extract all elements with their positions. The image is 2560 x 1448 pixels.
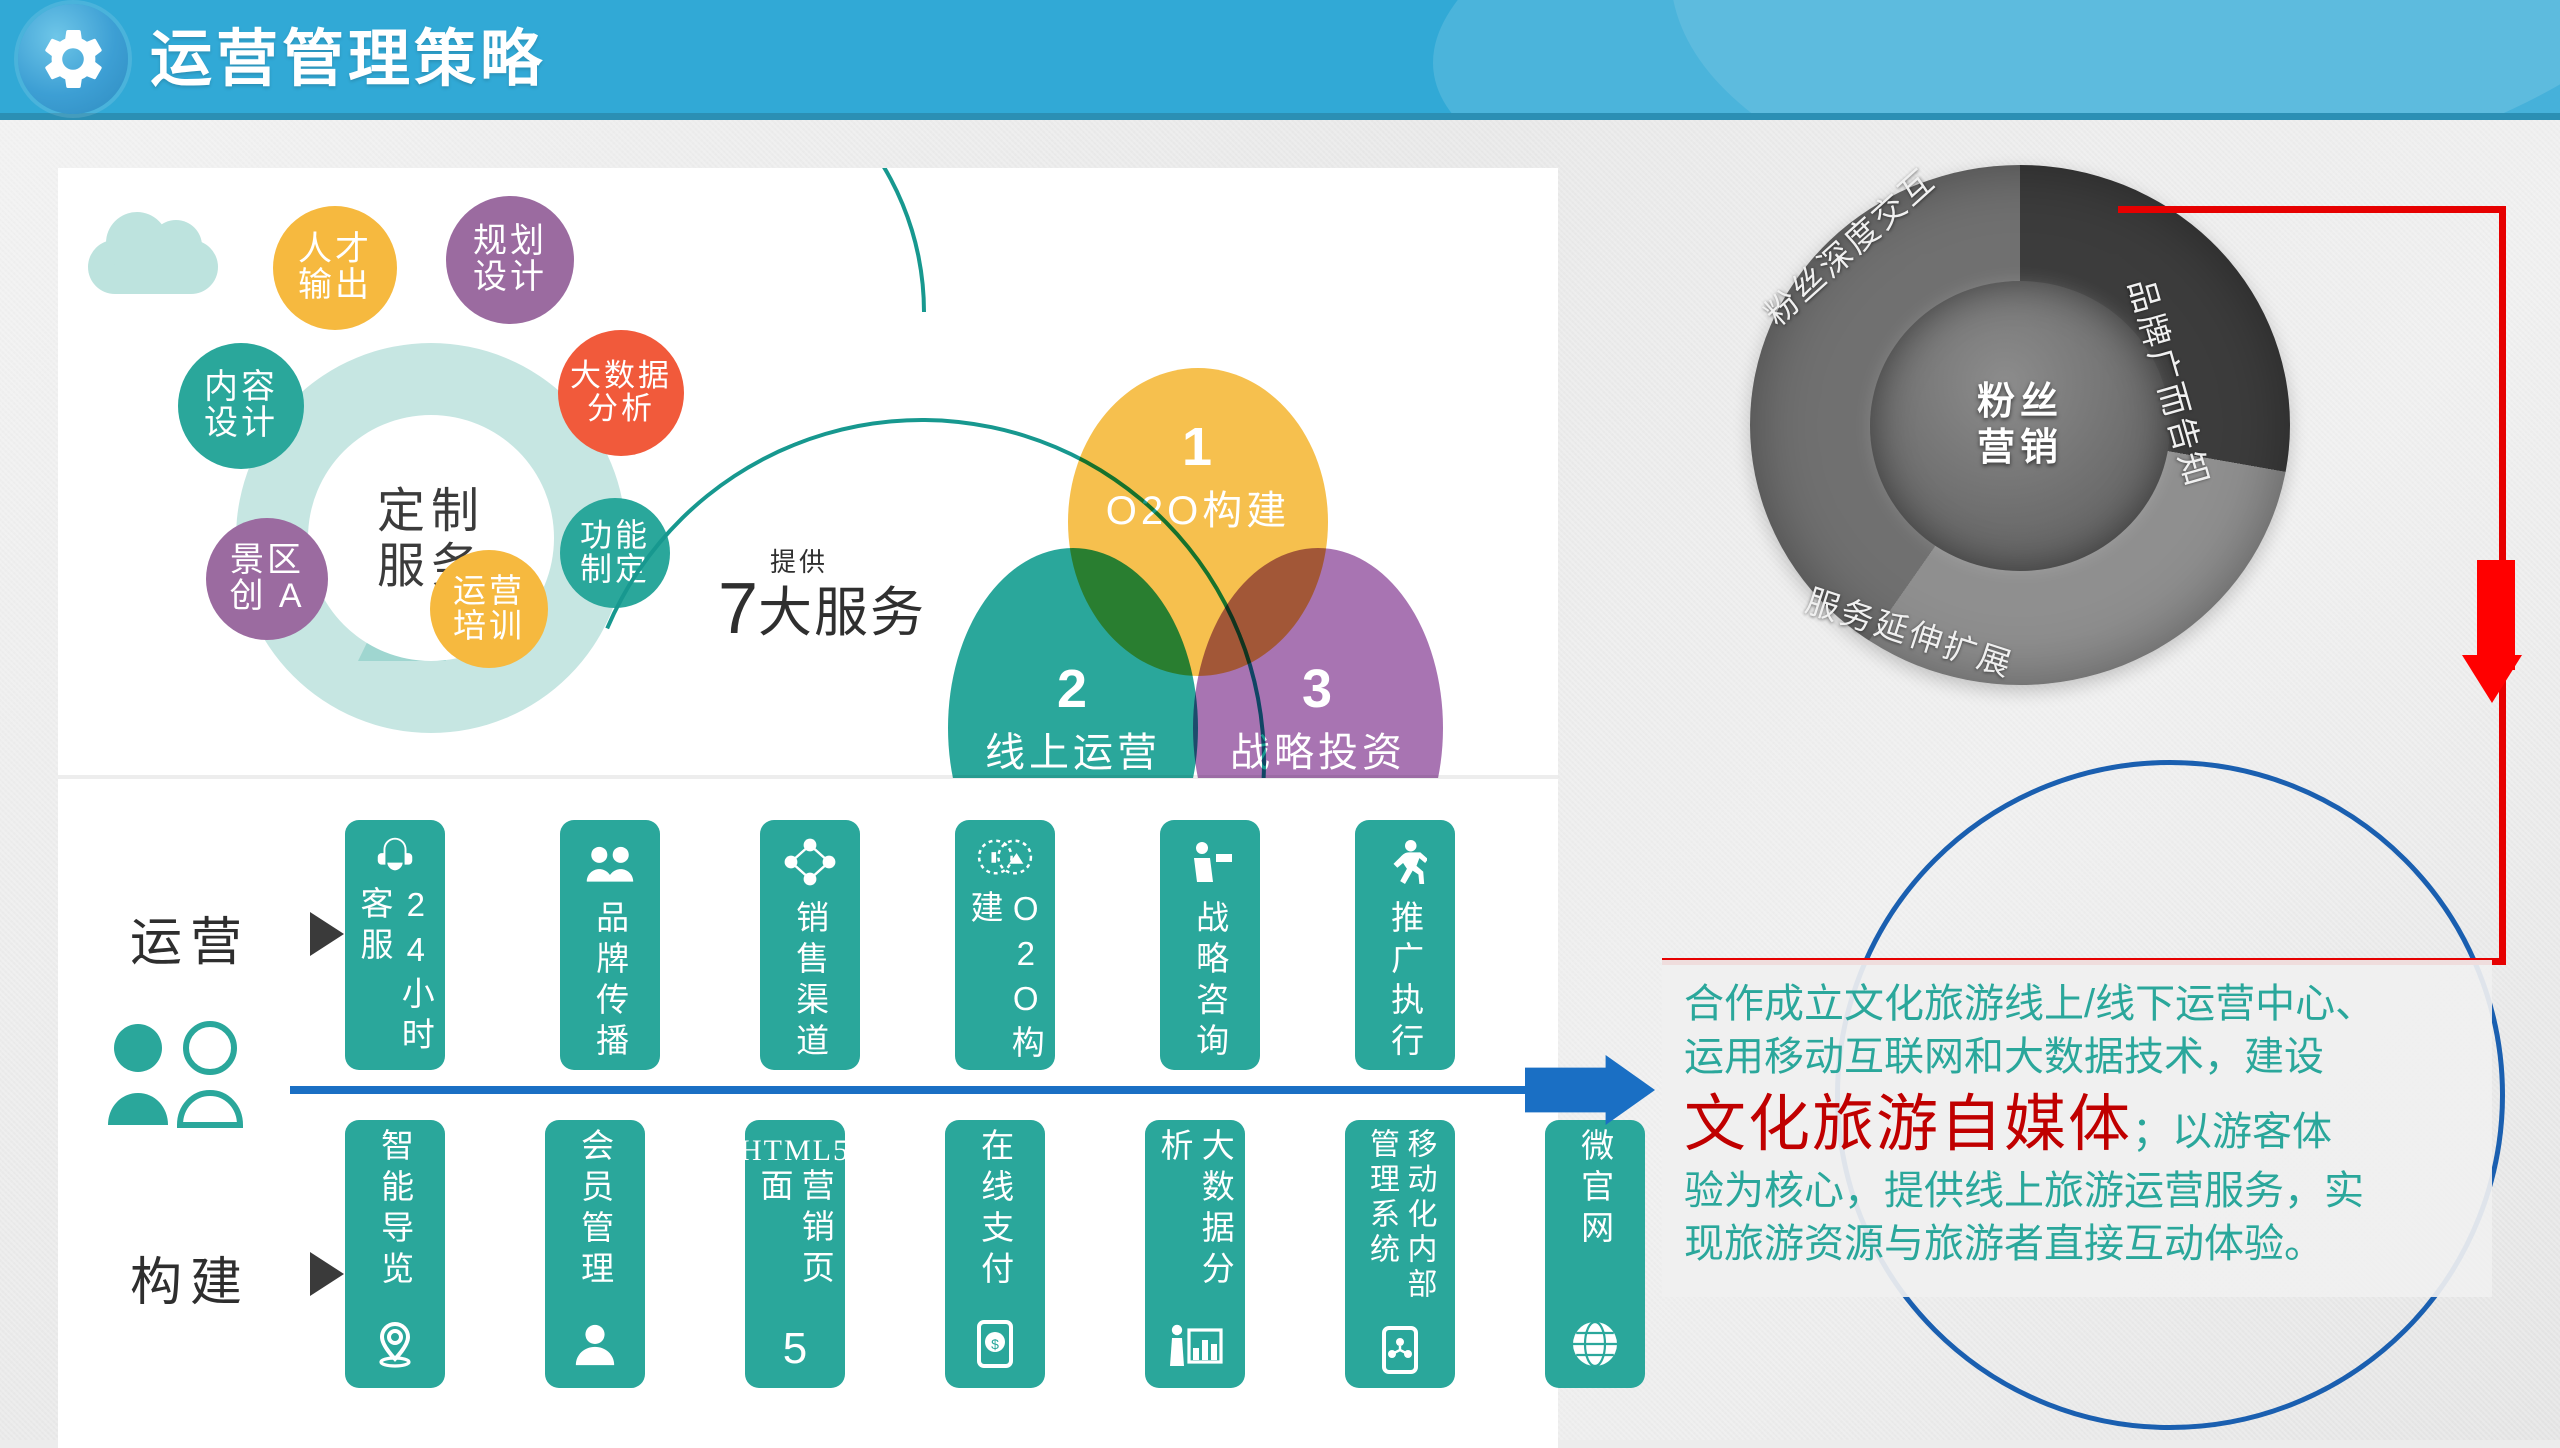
- card-wechat-official-site[interactable]: 微官网: [1545, 1120, 1645, 1388]
- blue-connector-shaft: [290, 1086, 1530, 1094]
- globe-icon: [1571, 1314, 1619, 1374]
- donut-center-label: 粉丝 营销: [1870, 281, 2170, 571]
- card-mobile-internal-system[interactable]: 移动化内部管理系统: [1345, 1120, 1455, 1388]
- callout-line-2: 运用移动互联网和大数据技术，建设: [1684, 1031, 2470, 1084]
- gear-icon: [18, 4, 128, 114]
- card-brand-communication[interactable]: 品牌传播: [560, 820, 660, 1070]
- donut-center-line1: 粉丝: [1977, 380, 2063, 426]
- venn-number: 3: [1302, 658, 1334, 720]
- mobile-pay-icon: $: [977, 1314, 1013, 1374]
- card-24h-service[interactable]: 24小时客服: [345, 820, 445, 1070]
- running-person-icon: [1383, 832, 1427, 892]
- callout-text-box: 合作成立文化旅游线上/线下运营中心、 运用移动互联网和大数据技术，建设 文化旅游…: [1662, 960, 2492, 1297]
- card-html5-top: HTML5: [740, 1134, 850, 1168]
- card-html5-marketing-page[interactable]: HTML5 营销页面 5: [745, 1120, 845, 1388]
- card-sales-channel[interactable]: 销售渠道: [760, 820, 860, 1070]
- row-arrow-operation: [310, 912, 344, 956]
- service-callout-sup: 提供: [770, 542, 828, 579]
- bubble-scenic-a-rating[interactable]: 景区 创 A: [206, 518, 328, 640]
- service-callout-number: 7: [718, 569, 758, 649]
- page-title: 运营管理策略: [150, 12, 546, 108]
- card-member-management[interactable]: 会员管理: [545, 1120, 645, 1388]
- podium-speaker-icon: [1184, 832, 1236, 892]
- location-pin-icon: [373, 1314, 417, 1374]
- donut-inner-disc: 粉丝 营销: [1870, 281, 2170, 571]
- callout-highlight: 文化旅游自媒体: [1684, 1090, 2132, 1159]
- card-label: 战略咨询: [1189, 900, 1230, 1064]
- callout-line-3: 文化旅游自媒体；以游客体: [1684, 1084, 2470, 1166]
- bubble-label-line2: 创 A: [229, 579, 304, 615]
- red-connector-right: [2499, 206, 2506, 596]
- bubble-label-line1: 景区: [229, 543, 304, 579]
- svg-text:$: $: [991, 1336, 999, 1352]
- callout-after-highlight: ；以游客体: [2132, 1110, 2332, 1154]
- card-o2o-construction[interactable]: O2O构建: [955, 820, 1055, 1070]
- header-underline: [0, 113, 2560, 120]
- card-big-data-analysis[interactable]: 大数据分析: [1145, 1120, 1245, 1388]
- card-html5-bottom: 5: [783, 1324, 807, 1374]
- card-online-payment[interactable]: 在线支付 $: [945, 1120, 1045, 1388]
- header-wave-decoration-front: [1411, 0, 2560, 120]
- two-people-icon: [585, 832, 635, 892]
- card-label: 智能导览: [374, 1128, 415, 1292]
- bubble-label-line1: 运营: [453, 574, 525, 609]
- red-arrow-head: [2462, 655, 2522, 703]
- card-label: 24小时客服: [354, 886, 437, 1070]
- red-connector-top: [2118, 206, 2506, 213]
- service-callout-text: 大服务: [758, 583, 926, 643]
- headset-agent-icon: [372, 832, 418, 878]
- card-label: 微官网: [1574, 1128, 1615, 1251]
- callout-line-5: 现旅游资源与旅游者直接互动体验。: [1684, 1218, 2470, 1271]
- callout-line-1: 合作成立文化旅游线上/线下运营中心、: [1684, 978, 2470, 1031]
- row-arrow-construction: [310, 1252, 344, 1296]
- card-label: 大数据分析: [1154, 1128, 1237, 1318]
- card-label: 移动化内部管理系统: [1363, 1128, 1438, 1326]
- venn-number: 1: [1182, 416, 1214, 478]
- card-label: 品牌传播: [589, 900, 630, 1064]
- bubble-content-design[interactable]: 内容 设计: [178, 343, 304, 469]
- fan-marketing-donut: 粉丝 营销 粉丝深度交互 品牌广而告知 服务延伸扩展: [1750, 165, 2290, 685]
- cloud-decoration-left-puff2: [150, 220, 202, 272]
- red-connector-bottom-right: [2499, 660, 2506, 960]
- callout-line-4: 验为核心，提供线上旅游运营服务，实: [1684, 1165, 2470, 1218]
- red-arrow-stem: [2477, 560, 2515, 670]
- venn-label: O2O构建: [1106, 478, 1290, 536]
- bubble-label-line2: 培训: [453, 609, 525, 644]
- network-nodes-icon: [784, 832, 836, 892]
- card-promotion-execution[interactable]: 推广执行: [1355, 820, 1455, 1070]
- bar-chart-person-icon: [1167, 1318, 1223, 1374]
- user-icon: [572, 1314, 618, 1374]
- card-label: 营销页面: [754, 1168, 837, 1324]
- custom-service-diagram: 定制 服务 人才 输出 规划 设计 内容 设计 大数据 分析 功能 制定: [58, 168, 1558, 778]
- mobile-system-icon: [1382, 1326, 1418, 1374]
- donut-center-line2: 营销: [1977, 426, 2063, 472]
- card-smart-guide[interactable]: 智能导览: [345, 1120, 445, 1388]
- row-label-construction: 构建: [130, 1240, 250, 1315]
- bubble-label-line2: 设计: [204, 406, 278, 442]
- o2o-circles-icon: [976, 832, 1034, 882]
- card-label: 推广执行: [1384, 900, 1425, 1064]
- service-count-callout: 提供 7大服务: [718, 568, 926, 650]
- card-strategy-consulting[interactable]: 战略咨询: [1160, 820, 1260, 1070]
- user-figure-decoration: [100, 1020, 275, 1135]
- venn-label: 线上运营: [985, 720, 1161, 778]
- card-label: 会员管理: [574, 1128, 615, 1292]
- venn-label: 战略投资: [1230, 720, 1406, 778]
- card-label: O2O构建: [964, 890, 1047, 1070]
- row-label-operation: 运营: [130, 900, 250, 975]
- venn-number: 2: [1057, 658, 1089, 720]
- bubble-label-line1: 内容: [204, 370, 278, 406]
- card-label: 销售渠道: [789, 900, 830, 1064]
- card-label: 在线支付: [974, 1128, 1015, 1292]
